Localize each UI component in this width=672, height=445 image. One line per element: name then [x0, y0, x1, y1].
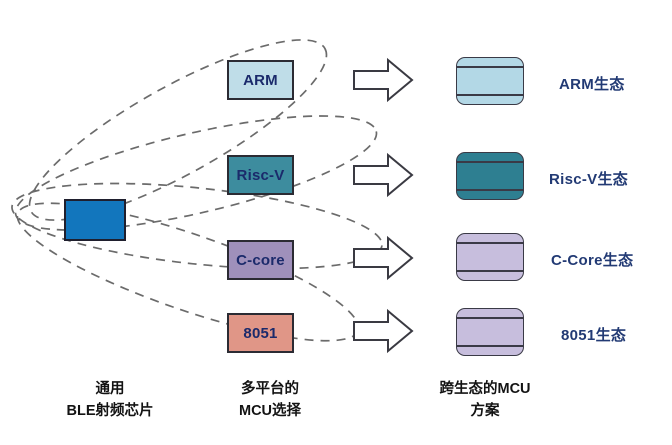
caption-solution-line1: 跨生态的MCU — [400, 378, 570, 400]
caption-source: 通用 BLE射频芯片 — [20, 378, 200, 423]
platform-box-arm[interactable]: ARM — [227, 60, 294, 100]
platform-label-arm: ARM — [243, 72, 278, 89]
platform-box-8051[interactable]: 8051 — [227, 313, 294, 353]
caption-source-line1: 通用 — [20, 378, 200, 400]
ecosystem-label-8051: 8051生态 — [561, 324, 626, 345]
eco-band-top — [457, 317, 523, 319]
right-block-arrow-icon-ccore — [352, 235, 414, 281]
platform-label-ccore: C-core — [236, 252, 285, 269]
caption-solution: 跨生态的MCU 方案 — [400, 378, 570, 423]
platform-label-riscv: Risc-V — [237, 167, 285, 184]
ble-rf-chip-box[interactable] — [64, 199, 126, 241]
ecosystem-box-ccore[interactable] — [456, 233, 524, 281]
ecosystem-label-arm: ARM生态 — [559, 73, 625, 94]
platform-box-riscv[interactable]: Risc-V — [227, 155, 294, 195]
ecosystem-label-ccore: C-Core生态 — [551, 249, 633, 270]
right-block-arrow-icon-arm — [352, 57, 414, 103]
eco-band-bottom — [457, 189, 523, 191]
right-block-arrow-icon-riscv — [352, 152, 414, 198]
grouping-ellipse-arm — [10, 10, 347, 250]
eco-band-bottom — [457, 270, 523, 272]
eco-band-top — [457, 161, 523, 163]
ecosystem-label-riscv: Risc-V生态 — [549, 168, 628, 189]
caption-platform: 多平台的 MCU选择 — [200, 378, 340, 423]
eco-band-top — [457, 66, 523, 68]
ecosystem-box-riscv[interactable] — [456, 152, 524, 200]
caption-solution-line2: 方案 — [400, 400, 570, 422]
diagram-canvas: ARM Risc-V C-core 8051 ARM生态 Risc — [0, 0, 672, 445]
right-block-arrow-icon-8051 — [352, 308, 414, 354]
platform-label-8051: 8051 — [243, 325, 277, 342]
caption-platform-line2: MCU选择 — [200, 400, 340, 422]
caption-platform-line1: 多平台的 — [200, 378, 340, 400]
grouping-ellipse-8051 — [5, 177, 370, 366]
eco-band-bottom — [457, 94, 523, 96]
platform-box-ccore[interactable]: C-core — [227, 240, 294, 280]
ecosystem-box-8051[interactable] — [456, 308, 524, 356]
eco-band-bottom — [457, 345, 523, 347]
eco-band-top — [457, 242, 523, 244]
caption-source-line2: BLE射频芯片 — [20, 400, 200, 422]
ecosystem-box-arm[interactable] — [456, 57, 524, 105]
